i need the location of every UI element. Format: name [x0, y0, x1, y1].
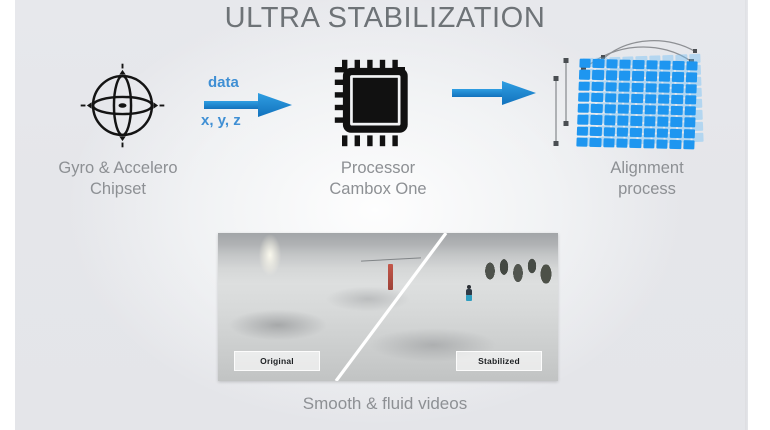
skier-figure [466, 285, 472, 301]
stage-label-alignment-line2: process [567, 179, 727, 200]
media-tag-stabilized: Stabilized [456, 351, 542, 371]
slide-caption: Smooth & fluid videos [0, 394, 770, 414]
stage-label-processor-line2: Cambox One [288, 179, 468, 200]
blue-arrow-right-icon [452, 80, 538, 106]
stage-label-gyro-line1: Gyro & Accelero [18, 158, 218, 179]
connector-data-arrow: data x, y, z [196, 74, 306, 144]
slide-canvas: ULTRA STABILIZATION [0, 0, 770, 430]
connector-process-arrow [452, 80, 538, 116]
ski-lift-pole [388, 264, 393, 290]
stage-label-gyro-line2: Chipset [18, 179, 218, 200]
alignment-grid-main [576, 59, 697, 150]
stage-label-alignment-line1: Alignment [567, 158, 727, 179]
cpu-chip-icon [333, 58, 423, 148]
connector-label-data: data [208, 74, 239, 91]
media-tag-original: Original [234, 351, 320, 371]
blue-arrow-right-icon [204, 92, 294, 118]
stage-label-alignment: Alignment process [567, 158, 727, 200]
gyroscope-icon [75, 58, 170, 153]
alignment-grid-icon [552, 28, 727, 153]
stage-label-gyro: Gyro & Accelero Chipset [18, 158, 218, 200]
stage-label-processor: Processor Cambox One [288, 158, 468, 200]
video-comparison-frame[interactable]: Original Stabilized [218, 233, 558, 381]
stage-label-processor-line1: Processor [288, 158, 468, 179]
